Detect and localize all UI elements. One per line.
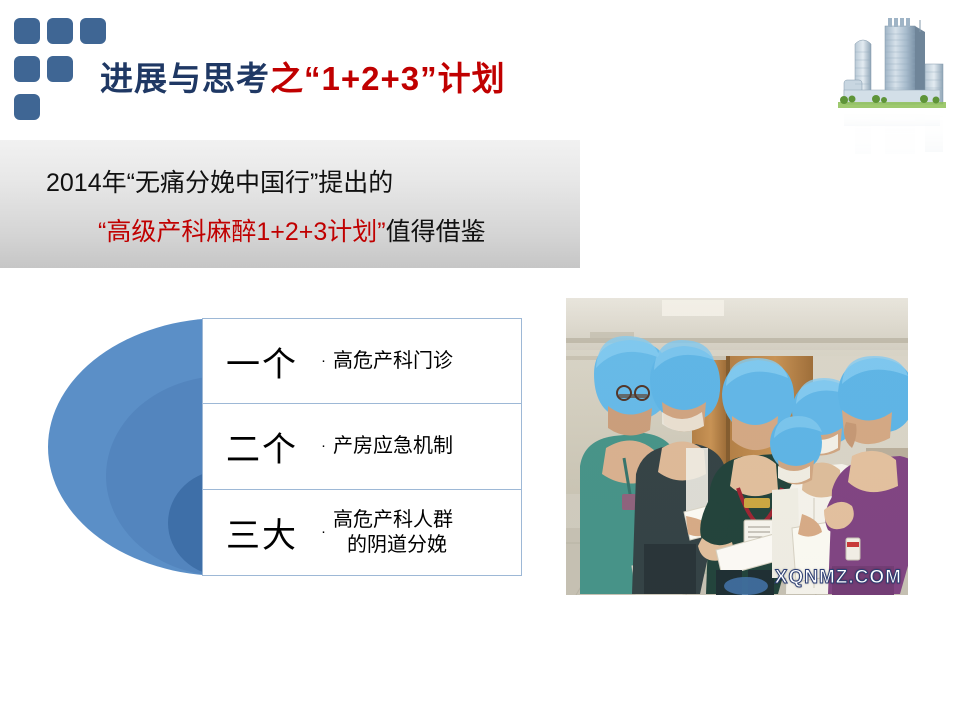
row-description-line1: 高危产科人群 xyxy=(333,509,453,531)
row-description-line1: 高危产科门诊 xyxy=(333,350,453,372)
banner-line-2: “高级产科麻醉1+2+3计划”值得借鉴 xyxy=(98,212,486,248)
logo-square-1 xyxy=(14,18,40,44)
subtitle-banner: 2014年“无痛分娩中国行”提出的 “高级产科麻醉1+2+3计划”值得借鉴 xyxy=(0,140,580,268)
row-number-label: 一个 xyxy=(203,337,321,386)
banner-line-2-red: “高级产科麻醉1+2+3计划” xyxy=(98,218,386,246)
plan-table: 一个 · 高危产科门诊 二个 · 产房应急机制 三大 · 高危产科人群的阴道分娩 xyxy=(202,318,522,576)
hospital-building-icon xyxy=(828,6,956,154)
table-row[interactable]: 三大 · 高危产科人群的阴道分娩 xyxy=(202,490,522,576)
bullet-icon: · xyxy=(321,524,333,541)
row-description-line2: 的阴道分娩 xyxy=(333,533,515,558)
logo-square-3 xyxy=(80,18,106,44)
row-description: 高危产科人群的阴道分娩 xyxy=(333,508,521,558)
logo-square-2 xyxy=(47,18,73,44)
page-title: 进展与思考之“1+2+3”计划 xyxy=(100,58,506,100)
page-title-navy: 进展与思考 xyxy=(100,60,270,97)
page-title-red: 之“1+2+3”计划 xyxy=(270,60,506,97)
hospital-staff-photo: XQNMZ.COM xyxy=(566,298,908,595)
row-description: 高危产科门诊 xyxy=(333,349,521,374)
banner-line-1: 2014年“无痛分娩中国行”提出的 xyxy=(46,163,393,199)
row-number-label: 二个 xyxy=(203,422,321,471)
photo-watermark: XQNMZ.COM xyxy=(775,567,902,589)
table-row[interactable]: 一个 · 高危产科门诊 xyxy=(202,318,522,404)
row-number-label: 三大 xyxy=(203,508,321,557)
row-description-line1: 产房应急机制 xyxy=(333,435,453,457)
bullet-icon: · xyxy=(321,353,333,370)
row-description: 产房应急机制 xyxy=(333,434,521,459)
table-row[interactable]: 二个 · 产房应急机制 xyxy=(202,404,522,490)
bullet-icon: · xyxy=(321,438,333,455)
slide-canvas: 进展与思考之“1+2+3”计划 xyxy=(0,0,960,720)
nested-semicircles-graphic xyxy=(48,318,224,576)
logo-square-5 xyxy=(47,56,73,82)
logo-square-4 xyxy=(14,56,40,82)
stacked-squares-logo xyxy=(14,18,106,124)
banner-line-2-black: 值得借鉴 xyxy=(386,218,486,246)
logo-square-6 xyxy=(14,94,40,120)
